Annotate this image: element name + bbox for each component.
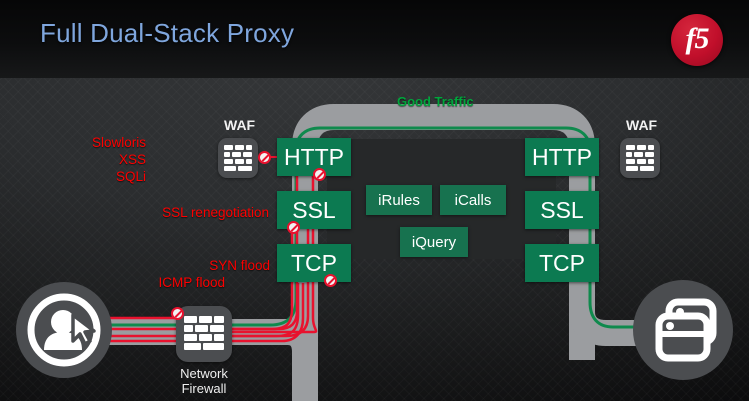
- f5-logo: f5: [671, 14, 723, 66]
- blocked-marker-ssl: [287, 221, 300, 234]
- waf-right-icon[interactable]: [620, 138, 660, 178]
- application-windows-icon: [633, 280, 733, 380]
- attack-label-icmp-flood: ICMP flood: [130, 275, 225, 290]
- module-label-iquery: iQuery: [412, 234, 456, 251]
- network-firewall-label-line2: Firewall: [144, 381, 264, 396]
- client-stack-label-ssl: SSL: [292, 197, 335, 224]
- attack-label-ssl-renegotiation: SSL renegotiation: [104, 205, 269, 220]
- blocked-marker-http: [313, 168, 326, 181]
- slide-canvas: Full Dual-Stack Proxy f5: [0, 0, 749, 401]
- blocked-marker-network-firewall: [171, 307, 184, 320]
- blocked-marker-waf: [258, 151, 271, 164]
- attack-label-syn-flood: SYN flood: [160, 258, 270, 273]
- network-firewall-icon[interactable]: [176, 306, 232, 362]
- module-box-icalls[interactable]: iCalls: [440, 185, 506, 215]
- waf-left-label: WAF: [224, 117, 255, 133]
- attack-label-sqli: SQLi: [56, 169, 146, 184]
- client-stack-label-tcp: TCP: [291, 250, 337, 277]
- client-endpoint[interactable]: [16, 282, 112, 378]
- server-stack-box-tcp[interactable]: TCP: [525, 244, 599, 282]
- server-endpoint[interactable]: [633, 280, 733, 380]
- module-box-irules[interactable]: iRules: [366, 185, 432, 215]
- client-stack-label-http: HTTP: [284, 144, 344, 171]
- server-stack-box-http[interactable]: HTTP: [525, 138, 599, 176]
- module-label-irules: iRules: [378, 192, 420, 209]
- client-stack-box-tcp[interactable]: TCP: [277, 244, 351, 282]
- network-firewall-label-line1: Network: [144, 366, 264, 381]
- module-label-icalls: iCalls: [455, 192, 492, 209]
- server-stack-label-http: HTTP: [532, 144, 592, 171]
- server-stack-label-tcp: TCP: [539, 250, 585, 277]
- attack-label-xss: XSS: [56, 152, 146, 167]
- blocked-marker-tcp: [324, 274, 337, 287]
- module-box-iquery[interactable]: iQuery: [400, 227, 468, 257]
- attack-label-slowloris: Slowloris: [56, 135, 146, 150]
- good-traffic-label: Good Traffic: [397, 94, 474, 109]
- network-firewall-label: Network Firewall: [144, 366, 264, 396]
- waf-right-label: WAF: [626, 117, 657, 133]
- server-stack-box-ssl[interactable]: SSL: [525, 191, 599, 229]
- page-title: Full Dual-Stack Proxy: [40, 18, 294, 49]
- server-stack-label-ssl: SSL: [540, 197, 583, 224]
- f5-logo-text: f5: [671, 14, 723, 66]
- user-cursor-icon: [16, 282, 112, 378]
- waf-left-icon[interactable]: [218, 138, 258, 178]
